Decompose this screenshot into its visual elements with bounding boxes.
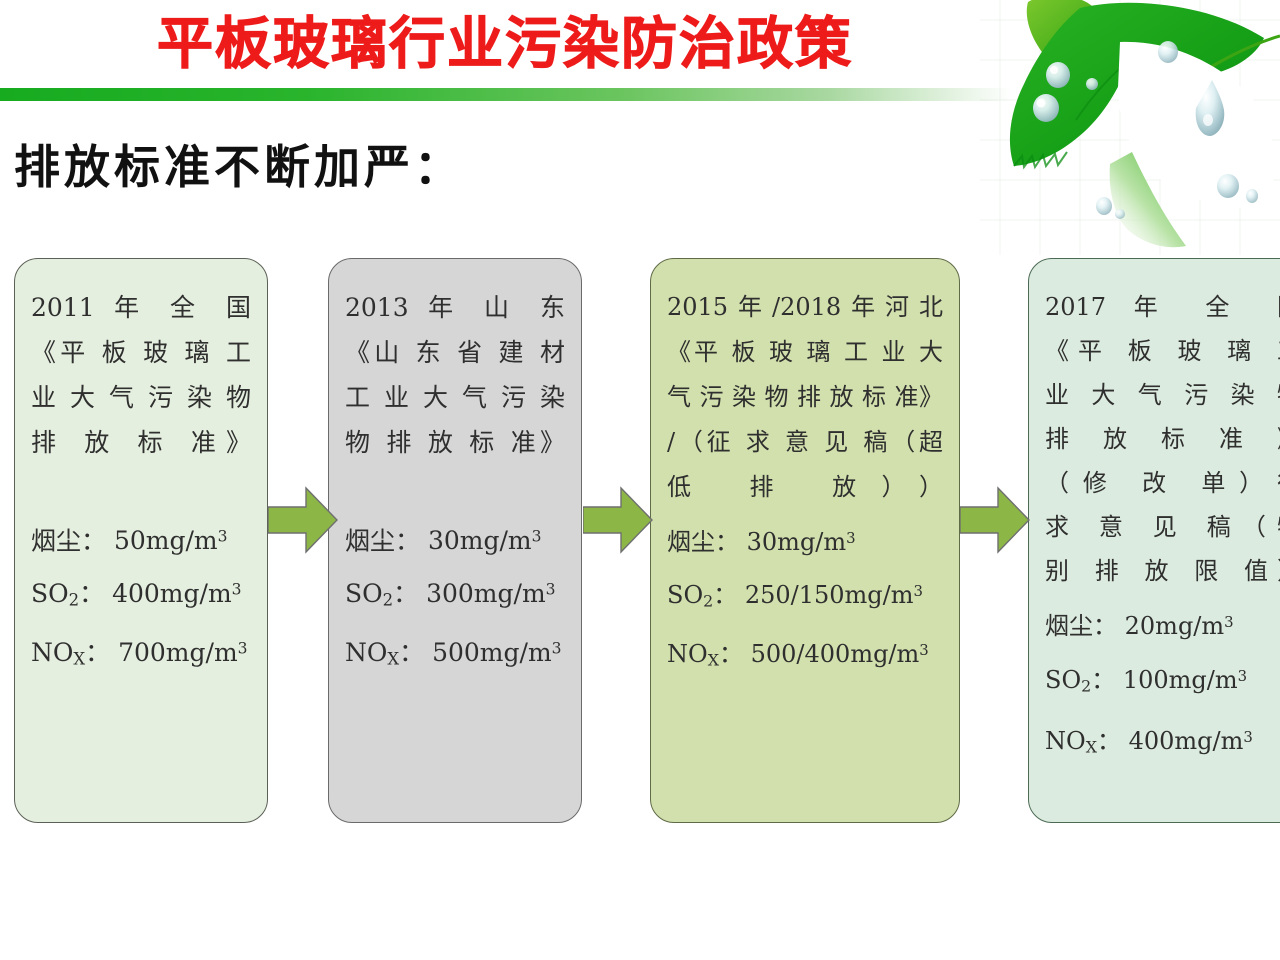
page-title: 平板玻璃行业污染防治政策 <box>0 10 1010 80</box>
card-heading-2011: 2011 年 全 国《平 板 玻 璃 工业 大 气 污 染 物排 放 标 准》 <box>31 285 251 465</box>
metric-unit-exponent: 3 <box>1243 728 1252 746</box>
metric-value: 250/150mg/m3 <box>745 581 923 609</box>
metric-row: SO2： 400mg/m3 <box>31 565 251 624</box>
card-heading-line: 工 业 大 气 污 染 <box>345 375 565 420</box>
card-heading-line: 《平 板 玻 璃 工 <box>1045 329 1280 373</box>
standards-timeline-flow: 2011 年 全 国《平 板 玻 璃 工业 大 气 污 染 物排 放 标 准》 … <box>0 258 1280 828</box>
metric-value: 500mg/m3 <box>432 638 561 667</box>
card-heading-line: 2017 年 全 国 <box>1045 285 1280 329</box>
metric-unit-exponent: 3 <box>238 640 248 658</box>
card-heading-line: 求 意 见 稿（特 <box>1045 505 1280 549</box>
card-heading-2015-2018: 2015年/2018年河北《平 板 玻 璃 工 业 大气 污 染 物 排 放 标… <box>667 285 943 510</box>
metric-label-subscript: X <box>1086 737 1097 756</box>
metric-label: NOX： <box>31 638 110 667</box>
metric-value: 50mg/m3 <box>114 526 228 555</box>
metric-value: 700mg/m3 <box>118 638 247 667</box>
flow-arrow-3 <box>960 486 1030 554</box>
card-metrics-2013: 烟尘： 30mg/m3SO2： 300mg/m3NOX： 500mg/m3 <box>345 513 565 684</box>
metric-row: NOX： 400mg/m3 <box>1045 712 1280 773</box>
metric-value: 30mg/m3 <box>428 526 542 555</box>
right-arrow-icon <box>583 486 653 554</box>
card-heading-line: 气 污 染 物 排 放 标 准》 <box>667 375 943 420</box>
timeline-card-2011[interactable]: 2011 年 全 国《平 板 玻 璃 工业 大 气 污 染 物排 放 标 准》 … <box>14 258 268 823</box>
timeline-card-2015-2018[interactable]: 2015年/2018年河北《平 板 玻 璃 工 业 大气 污 染 物 排 放 标… <box>650 258 960 823</box>
metric-value: 400mg/m3 <box>1129 727 1253 755</box>
metric-unit-exponent: 3 <box>1224 613 1233 631</box>
metric-label: 烟尘： <box>1045 612 1117 640</box>
card-heading-line: 业 大 气 污 染 物 <box>1045 373 1280 417</box>
metric-unit-exponent: 3 <box>218 528 228 546</box>
slide-header: 平板玻璃行业污染防治政策 <box>0 0 1280 110</box>
card-metrics-2017: 烟尘： 20mg/m3SO2： 100mg/m3NOX： 400mg/m3 <box>1045 597 1280 772</box>
timeline-card-2013[interactable]: 2013 年 山 东《山 东 省 建 材工 业 大 气 污 染物 排 放 标 准… <box>328 258 582 823</box>
card-heading-line: 别 排 放 限 值） <box>1045 549 1280 593</box>
card-heading-2013: 2013 年 山 东《山 东 省 建 材工 业 大 气 污 染物 排 放 标 准… <box>345 285 565 465</box>
metric-label: SO2： <box>1045 666 1115 694</box>
metric-label: NOX： <box>667 640 743 668</box>
card-heading-line: 排 放 标 准》 <box>31 420 251 465</box>
right-arrow-icon <box>268 486 338 554</box>
header-accent-bar <box>0 88 1012 101</box>
metric-label-subscript: X <box>708 650 719 669</box>
card-heading-line: 《山 东 省 建 材 <box>345 330 565 375</box>
card-metrics-2015-2018: 烟尘： 30mg/m3SO2： 250/150mg/m3NOX： 500/400… <box>667 514 943 684</box>
card-heading-line: 《平 板 玻 璃 工 <box>31 330 251 375</box>
metric-unit-exponent: 3 <box>919 641 928 659</box>
flow-arrow-2 <box>583 486 653 554</box>
metric-unit-exponent: 3 <box>546 580 556 598</box>
card-heading-line: 《平 板 玻 璃 工 业 大 <box>667 330 943 375</box>
metric-label-subscript: 2 <box>69 591 80 610</box>
metric-unit-exponent: 3 <box>914 582 923 600</box>
card-heading-line: （修 改 单）征 <box>1045 461 1280 505</box>
metric-value: 100mg/m3 <box>1123 666 1247 694</box>
metric-label-subscript: X <box>73 650 85 669</box>
metric-value: 30mg/m3 <box>747 528 856 556</box>
metric-value: 400mg/m3 <box>112 579 241 608</box>
right-arrow-icon <box>960 486 1030 554</box>
timeline-card-2017[interactable]: 2017 年 全 国《平 板 玻 璃 工业 大 气 污 染 物排 放 标 准 》… <box>1028 258 1280 823</box>
metric-row: 烟尘： 20mg/m3 <box>1045 597 1280 651</box>
card-heading-2017: 2017 年 全 国《平 板 玻 璃 工业 大 气 污 染 物排 放 标 准 》… <box>1045 285 1280 593</box>
metric-label: SO2： <box>345 579 418 608</box>
metric-value: 300mg/m3 <box>426 579 555 608</box>
card-heading-line: 2013 年 山 东 <box>345 285 565 330</box>
metric-row: SO2： 250/150mg/m3 <box>667 567 943 626</box>
metric-label-subscript: 2 <box>703 592 713 611</box>
metric-unit-exponent: 3 <box>232 580 242 598</box>
metric-label: SO2： <box>667 581 737 609</box>
metric-value: 500/400mg/m3 <box>751 640 929 668</box>
metric-unit-exponent: 3 <box>532 528 542 546</box>
metric-label: NOX： <box>345 638 424 667</box>
metric-label: 烟尘： <box>31 526 106 555</box>
flow-arrow-1 <box>268 486 338 554</box>
metric-row: NOX： 500mg/m3 <box>345 625 565 684</box>
metric-row: SO2： 100mg/m3 <box>1045 651 1280 712</box>
metric-row: NOX： 700mg/m3 <box>31 625 251 684</box>
metric-unit-exponent: 3 <box>552 640 562 658</box>
metric-unit-exponent: 3 <box>1238 667 1247 685</box>
metric-row: 烟尘： 30mg/m3 <box>345 513 565 565</box>
card-heading-line: 物 排 放 标 准》 <box>345 420 565 465</box>
metric-label: 烟尘： <box>345 526 420 555</box>
card-heading-line: /（征 求 意 见 稿（超 <box>667 420 943 465</box>
metric-label: SO2： <box>31 579 104 608</box>
metric-row: 烟尘： 30mg/m3 <box>667 514 943 567</box>
section-subtitle: 排放标准不断加严： <box>14 136 464 198</box>
card-heading-line: 2015年/2018年河北 <box>667 285 943 330</box>
card-heading-line: 排 放 标 准 》 <box>1045 417 1280 461</box>
metric-value: 20mg/m3 <box>1125 612 1234 640</box>
metric-label: NOX： <box>1045 727 1121 755</box>
card-heading-line: 低 排 放）） <box>667 465 943 510</box>
metric-label-subscript: X <box>387 650 399 669</box>
metric-label-subscript: 2 <box>1081 677 1091 696</box>
metric-row: NOX： 500/400mg/m3 <box>667 626 943 685</box>
metric-row: SO2： 300mg/m3 <box>345 565 565 624</box>
card-metrics-2011: 烟尘： 50mg/m3SO2： 400mg/m3NOX： 700mg/m3 <box>31 513 251 684</box>
card-heading-line: 2011 年 全 国 <box>31 285 251 330</box>
card-heading-line: 业 大 气 污 染 物 <box>31 375 251 420</box>
metric-label-subscript: 2 <box>383 591 394 610</box>
metric-row: 烟尘： 50mg/m3 <box>31 513 251 565</box>
metric-unit-exponent: 3 <box>846 529 855 547</box>
metric-label: 烟尘： <box>667 528 739 556</box>
